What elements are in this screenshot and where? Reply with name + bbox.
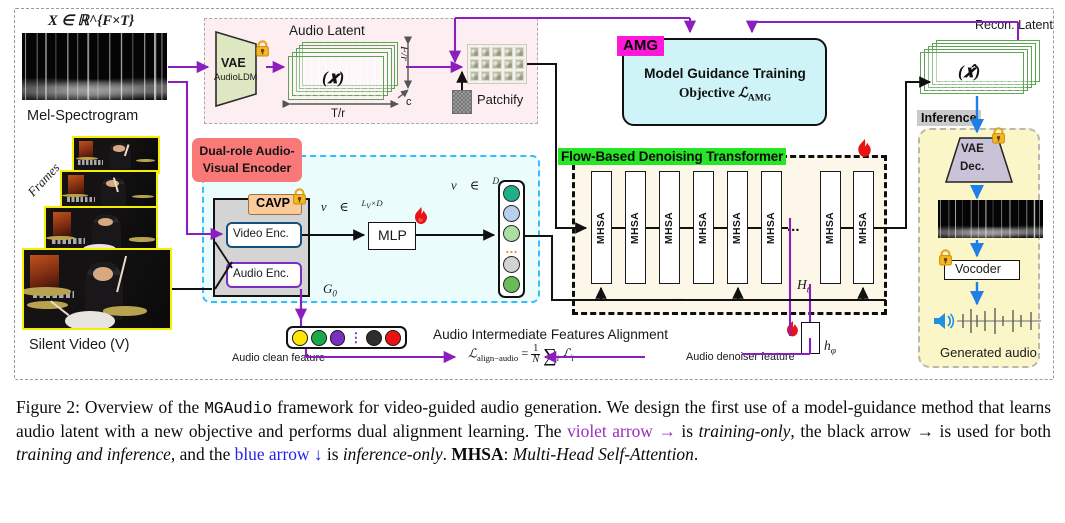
h-phi-box bbox=[801, 322, 820, 354]
noise-patch-block bbox=[452, 90, 472, 114]
mhsa-block: MHSA bbox=[659, 171, 680, 284]
figure-caption: Figure 2: Overview of the MGAudio framew… bbox=[16, 396, 1051, 465]
vocoder-label: Vocoder bbox=[955, 262, 1001, 276]
token-dot bbox=[503, 185, 520, 202]
silent-video-caption: Silent Video (V) bbox=[29, 337, 129, 353]
audio-clean-feature-label: Audio clean feature bbox=[232, 352, 325, 364]
inference-badge: Inference bbox=[917, 110, 981, 126]
v-lvd-label: v⃗ ∈ ℝLV×D bbox=[321, 198, 383, 215]
token-dot bbox=[503, 276, 520, 293]
v-d-label: v⃗ ∈ ℝD bbox=[451, 176, 499, 193]
amg-line1: Model Guidance Training bbox=[639, 66, 811, 81]
mlp-label: MLP bbox=[378, 227, 407, 243]
h-phi-label: hφ bbox=[824, 338, 836, 357]
alignment-loss-formula: ℒalign−audio = 1 N ∑i ℒi bbox=[468, 344, 574, 367]
audio-latent-symbol: (𝒙) bbox=[322, 68, 344, 88]
audio-latent-height-label: F/r bbox=[398, 46, 410, 61]
alignment-title: Audio Intermediate Features Alignment bbox=[433, 327, 668, 342]
dual-role-badge-line2: Visual Encoder bbox=[192, 161, 302, 175]
lock-icon bbox=[991, 127, 1006, 144]
clean-dots-ellipsis: ⋮ bbox=[348, 330, 363, 346]
caption-part8: : bbox=[504, 444, 513, 464]
token-dot bbox=[503, 205, 520, 222]
token-column: … bbox=[498, 180, 525, 298]
video-frame-4 bbox=[72, 136, 160, 174]
input-tensor-label: X ∈ ℝ^{F×T} bbox=[48, 13, 134, 30]
mel-spectrogram-caption: Mel-Spectrogram bbox=[27, 108, 138, 124]
audio-clean-feature-row: ⋮ bbox=[286, 326, 407, 349]
caption-italic2: training and inference bbox=[16, 444, 171, 464]
audio-latent-channel-label: c bbox=[406, 96, 412, 108]
patchify-grid bbox=[467, 44, 527, 84]
clean-dot bbox=[385, 330, 401, 346]
caption-prefix: Figure 2: Overview of the bbox=[16, 397, 204, 417]
amg-line2: Objective ℒAMG bbox=[639, 85, 811, 104]
clean-dot bbox=[292, 330, 308, 346]
token-dot bbox=[503, 225, 520, 242]
audio-denoiser-feature-label: Audio denoiser feature bbox=[686, 351, 795, 363]
caption-blue: blue arrow ↓ bbox=[235, 444, 323, 464]
video-encoder-label: Video Enc. bbox=[233, 227, 289, 240]
caption-part3: is bbox=[676, 421, 699, 441]
vae-decoder-line1: VAE bbox=[961, 143, 984, 155]
flame-icon bbox=[784, 320, 801, 340]
lock-icon bbox=[255, 40, 270, 57]
audio-latent-title: Audio Latent bbox=[289, 23, 365, 38]
dual-role-badge-line1: Dual-role Audio- bbox=[192, 144, 302, 158]
lock-icon bbox=[938, 249, 953, 266]
caption-italic4: Multi-Head Self-Attention bbox=[513, 444, 694, 464]
mhsa-block: MHSA bbox=[727, 171, 748, 284]
audio-encoder-label: Audio Enc. bbox=[233, 267, 289, 280]
waveform-icon bbox=[957, 306, 1041, 341]
caption-mono: MGAudio bbox=[204, 400, 272, 418]
audio-latent-width-label: T/r bbox=[331, 108, 345, 120]
transformer-bottom-ellipsis: ... bbox=[672, 288, 684, 304]
audio-latent-stack: (𝒙) bbox=[288, 42, 404, 104]
g0-label: G0 bbox=[323, 281, 337, 299]
caption-violet: violet arrow → bbox=[567, 421, 676, 441]
caption-part5: , and the bbox=[171, 444, 235, 464]
patchify-label: Patchify bbox=[477, 92, 523, 107]
amg-badge: AMG bbox=[617, 36, 664, 56]
recon-latent-label: Recon. Latent bbox=[975, 18, 1053, 32]
ht-label: Ht bbox=[797, 277, 809, 296]
flame-icon bbox=[412, 206, 429, 226]
clean-dot bbox=[366, 330, 382, 346]
vae-decoder-line2: Dec. bbox=[960, 161, 984, 173]
caption-part6: is bbox=[323, 444, 343, 464]
caption-bold-mhsa: MHSA bbox=[451, 444, 503, 464]
recon-latent-symbol: (𝒙̂) bbox=[958, 62, 980, 82]
transformer-ellipsis: ... bbox=[787, 218, 800, 235]
transformer-title: Flow-Based Denoising Transformer bbox=[558, 148, 786, 165]
figure-diagram: X ∈ ℝ^{F×T} Mel-Spectrogram Frame bbox=[0, 0, 1065, 390]
mhsa-block: MHSA bbox=[693, 171, 714, 284]
token-ellipsis: … bbox=[505, 245, 518, 253]
mhsa-block: MHSA bbox=[591, 171, 612, 284]
mhsa-block: MHSA bbox=[761, 171, 782, 284]
token-dot bbox=[503, 256, 520, 273]
mhsa-block: MHSA bbox=[853, 171, 874, 284]
caption-italic1: training-only bbox=[699, 421, 791, 441]
lock-icon bbox=[292, 188, 307, 205]
clean-dot bbox=[330, 330, 346, 346]
clean-dot bbox=[311, 330, 327, 346]
caption-italic3: inference-only bbox=[343, 444, 443, 464]
cavp-label: CAVP bbox=[256, 196, 290, 210]
mhsa-block: MHSA bbox=[625, 171, 646, 284]
vae-encoder-title: VAE bbox=[221, 56, 246, 70]
flame-icon bbox=[855, 138, 872, 158]
speaker-icon bbox=[933, 311, 957, 336]
video-frame-1 bbox=[22, 248, 172, 330]
caption-part4: , the black arrow → is used for both bbox=[790, 421, 1051, 441]
recon-latent-stack: (𝒙̂) bbox=[920, 40, 1048, 96]
vae-encoder-subtitle: AudioLDM bbox=[214, 72, 257, 82]
mhsa-block: MHSA bbox=[820, 171, 841, 284]
mel-spectrogram-image bbox=[22, 33, 167, 100]
generated-audio-label: Generated audio bbox=[940, 345, 1037, 360]
caption-part9: . bbox=[694, 444, 698, 464]
generated-spectrogram-image bbox=[938, 200, 1043, 238]
